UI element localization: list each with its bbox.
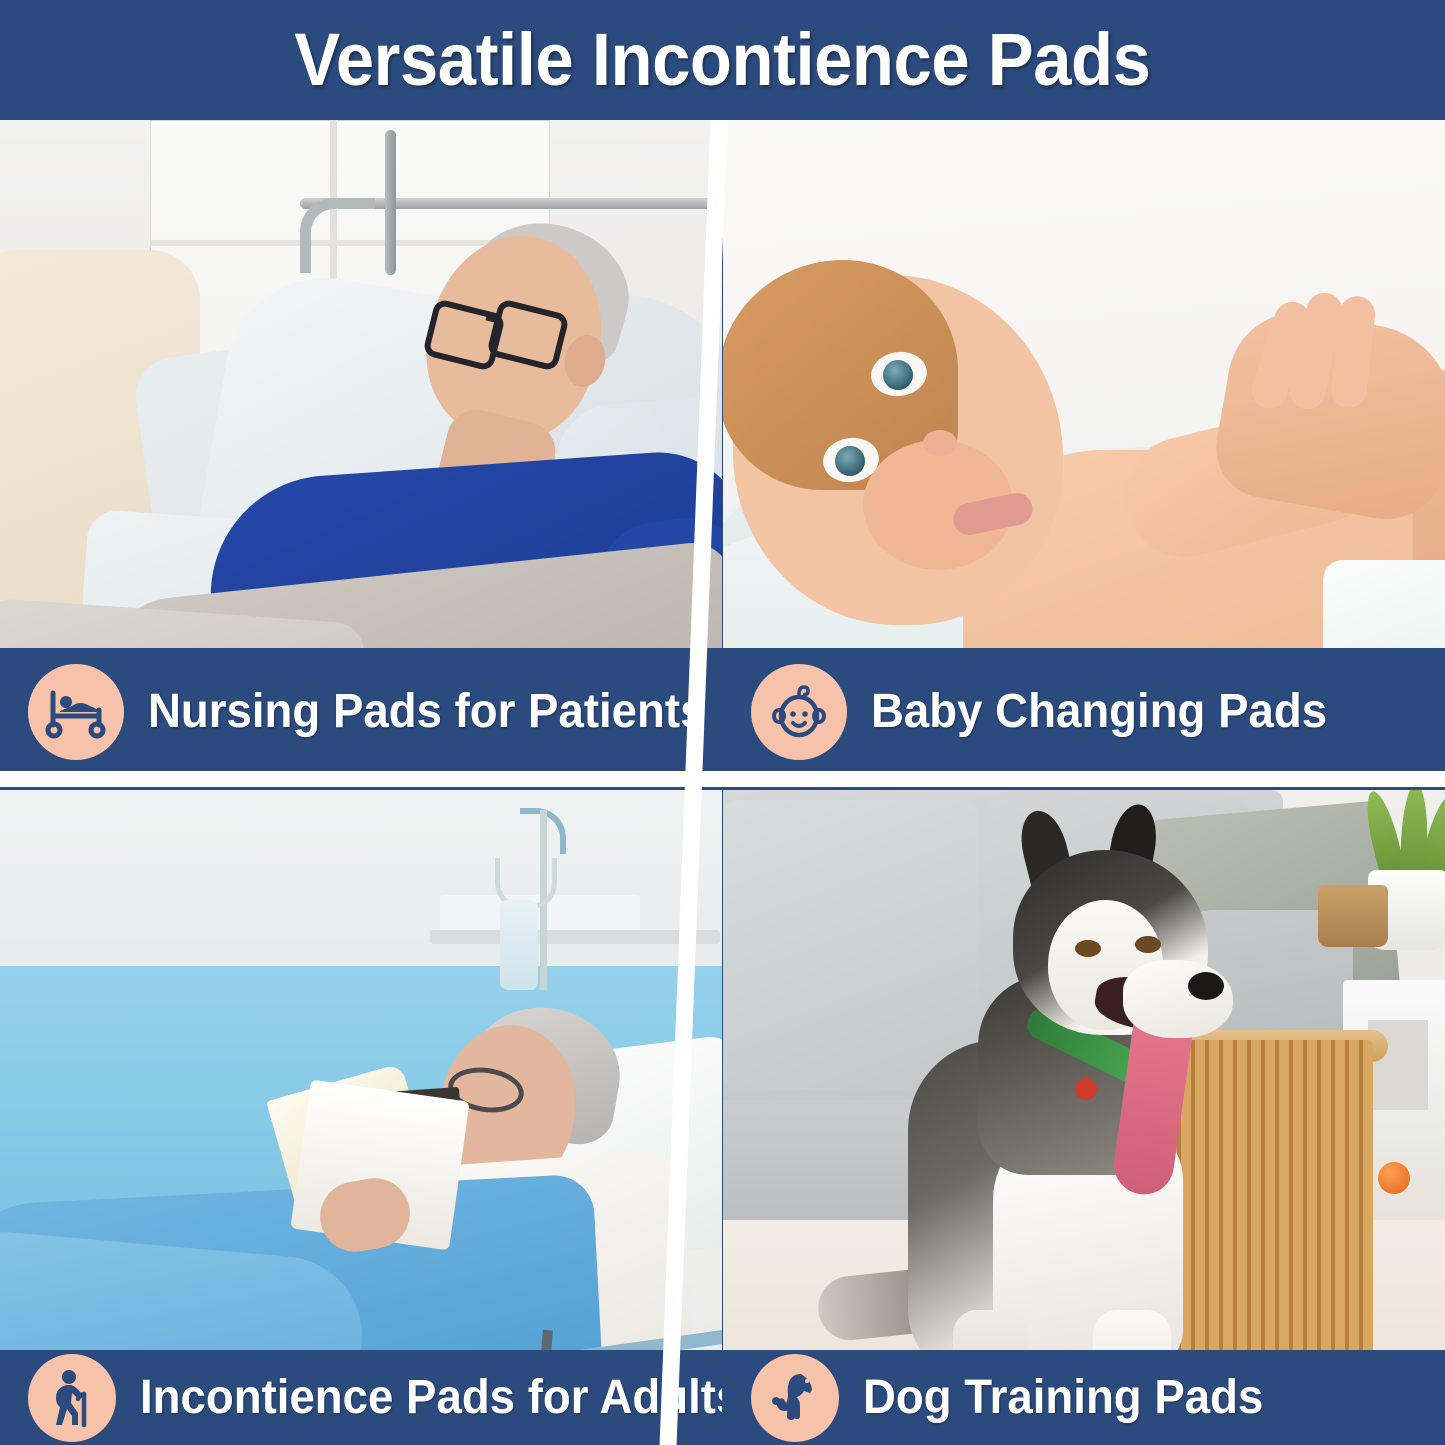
title-banner: Versatile Incontience Pads xyxy=(0,0,1445,120)
label-bar-baby-changing-pads: Baby Changing Pads xyxy=(723,648,1445,775)
label-bar-incontience-pads-adults: Incontience Pads for Adults xyxy=(0,1350,722,1445)
panel-incontience-pads-adults[interactable]: Incontience Pads for Adults xyxy=(0,790,722,1445)
elderly-person-with-cane-icon xyxy=(28,1354,116,1442)
hospital-bed-icon xyxy=(28,664,124,760)
panel-label-dog-training-pads: Dog Training Pads xyxy=(863,1374,1263,1422)
label-bar-nursing-pads: Nursing Pads for Patients xyxy=(0,648,722,775)
photo-dog-living-room xyxy=(723,790,1445,1350)
panel-label-incontience-pads-adults: Incontience Pads for Adults xyxy=(140,1374,722,1422)
label-bar-dog-training-pads: Dog Training Pads xyxy=(723,1350,1445,1445)
panel-grid: Nursing Pads for Patients xyxy=(0,120,1445,1445)
page-title: Versatile Incontience Pads xyxy=(294,23,1150,97)
product-infographic-poster: Versatile Incontience Pads xyxy=(0,0,1445,1445)
panel-label-baby-changing-pads: Baby Changing Pads xyxy=(871,688,1327,736)
panel-nursing-pads[interactable]: Nursing Pads for Patients xyxy=(0,120,722,775)
panel-baby-changing-pads[interactable]: Baby Changing Pads xyxy=(723,120,1445,775)
photo-baby-changing xyxy=(723,120,1445,648)
photo-elderly-woman-reading xyxy=(0,790,722,1350)
horizontal-divider xyxy=(0,771,1445,787)
photo-nursing-patient xyxy=(0,120,722,648)
panel-label-nursing-pads: Nursing Pads for Patients xyxy=(148,688,705,736)
panel-dog-training-pads[interactable]: Dog Training Pads xyxy=(723,790,1445,1445)
dog-and-cat-icon xyxy=(751,1354,839,1442)
baby-face-icon xyxy=(751,664,847,760)
